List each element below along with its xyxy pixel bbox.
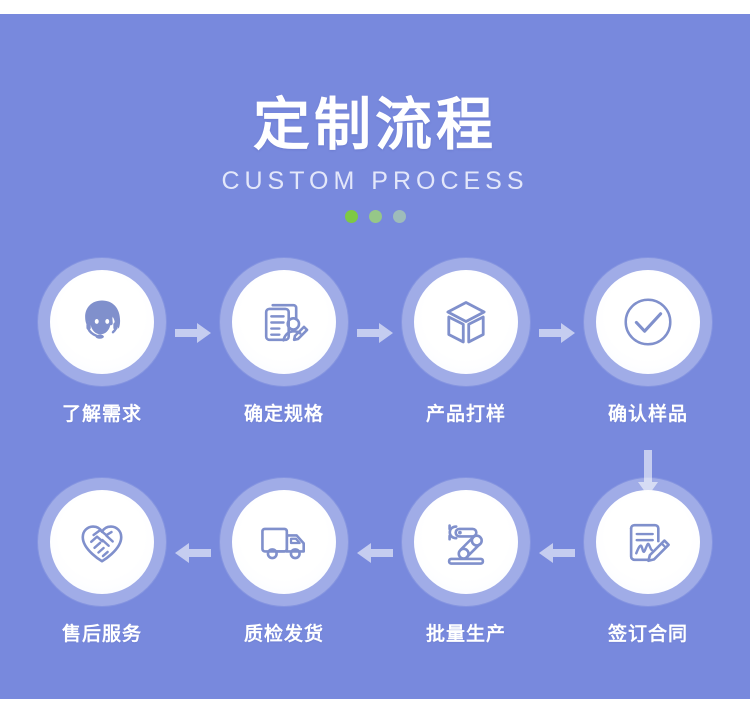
step-circle-inner bbox=[232, 270, 336, 374]
delivery-truck-icon bbox=[252, 510, 316, 574]
step-circle bbox=[402, 478, 530, 606]
infographic-panel: 定制流程 CUSTOM PROCESS bbox=[0, 14, 750, 699]
document-spec-person-pencil-icon bbox=[252, 290, 316, 354]
step-label: 质检发货 bbox=[244, 622, 324, 646]
step-circle bbox=[38, 478, 166, 606]
custom-process-infographic: 定制流程 CUSTOM PROCESS bbox=[0, 0, 750, 714]
step-circle-inner bbox=[414, 270, 518, 374]
step-circle bbox=[220, 258, 348, 386]
check-circle-icon bbox=[616, 290, 680, 354]
step-circle bbox=[584, 478, 712, 606]
flow-step-confirm-sample[interactable]: 确认样品 bbox=[557, 258, 739, 458]
step-circle-inner bbox=[596, 490, 700, 594]
step-label: 确认样品 bbox=[608, 402, 688, 426]
step-label: 签订合同 bbox=[608, 622, 688, 646]
flow-step-product-sampling[interactable]: 产品打样 bbox=[375, 258, 557, 458]
step-circle-inner bbox=[50, 270, 154, 374]
flow-step-after-sales-service[interactable]: 售后服务 bbox=[11, 478, 193, 678]
flow-row-top: 了解需求 bbox=[0, 258, 750, 458]
handshake-heart-icon bbox=[70, 510, 134, 574]
flow-step-confirm-specification[interactable]: 确定规格 bbox=[193, 258, 375, 458]
decorative-dots bbox=[0, 210, 750, 223]
step-circle bbox=[584, 258, 712, 386]
robot-arm-icon bbox=[434, 510, 498, 574]
step-circle-inner bbox=[414, 490, 518, 594]
page-title: 定制流程 bbox=[0, 92, 750, 158]
dot-2-icon bbox=[369, 210, 382, 223]
step-label: 批量生产 bbox=[426, 622, 506, 646]
step-circle bbox=[402, 258, 530, 386]
step-label: 售后服务 bbox=[62, 622, 142, 646]
step-label: 确定规格 bbox=[244, 402, 324, 426]
dot-3-icon bbox=[393, 210, 406, 223]
flow-step-inspection-shipping[interactable]: 质检发货 bbox=[193, 478, 375, 678]
flow-step-mass-production[interactable]: 批量生产 bbox=[375, 478, 557, 678]
header: 定制流程 CUSTOM PROCESS bbox=[0, 92, 750, 223]
flow-row-bottom: 售后服务 bbox=[0, 478, 750, 678]
step-circle bbox=[220, 478, 348, 606]
step-circle-inner bbox=[50, 490, 154, 594]
cube-box-sample-icon bbox=[434, 290, 498, 354]
flow-step-understand-requirements[interactable]: 了解需求 bbox=[11, 258, 193, 458]
step-label: 产品打样 bbox=[426, 402, 506, 426]
step-circle-inner bbox=[596, 270, 700, 374]
flow-step-sign-contract[interactable]: 签订合同 bbox=[557, 478, 739, 678]
customer-service-agent-icon bbox=[70, 290, 134, 354]
dot-1-icon bbox=[345, 210, 358, 223]
contract-signature-pencil-icon bbox=[616, 510, 680, 574]
step-label: 了解需求 bbox=[62, 402, 142, 426]
page-subtitle: CUSTOM PROCESS bbox=[0, 166, 750, 196]
step-circle bbox=[38, 258, 166, 386]
step-circle-inner bbox=[232, 490, 336, 594]
